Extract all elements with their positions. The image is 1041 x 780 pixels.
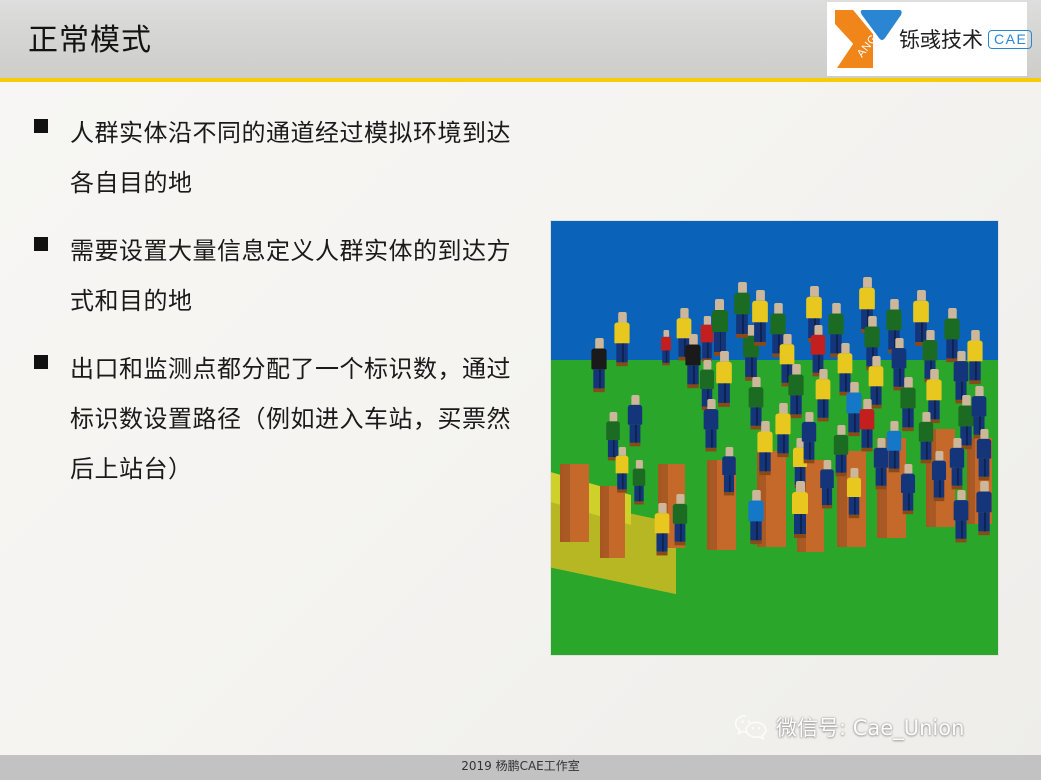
pedestrian-entity [860, 399, 875, 451]
pedestrian-entity [722, 447, 736, 495]
pedestrian-entity [712, 299, 728, 356]
pedestrian-entity [967, 330, 982, 384]
pedestrian-entity [976, 429, 990, 480]
wechat-icon [734, 713, 768, 741]
list-item: 人群实体沿不同的通道经过模拟环境到达各自目的地 [34, 108, 534, 208]
bullet-text: 出口和监测点都分配了一个标识数，通过标识数设置路径（例如进入车站，买票然后上站台… [70, 344, 518, 494]
pedestrian-entity [615, 447, 628, 493]
pedestrian-entity [775, 403, 790, 457]
list-item: 出口和监测点都分配了一个标识数，通过标识数设置路径（例如进入车站，买票然后上站台… [34, 344, 534, 494]
pedestrian-entity [672, 494, 686, 545]
barrier-block [600, 486, 625, 558]
pedestrian-entity [654, 503, 669, 555]
pedestrian-entity [887, 421, 901, 472]
watermark-text: 微信号: Cae_Union [776, 712, 964, 742]
header-accent-rule [0, 78, 1041, 82]
bullet-list: 人群实体沿不同的通道经过模拟环境到达各自目的地 需要设置大量信息定义人群实体的到… [34, 108, 534, 512]
pedestrian-entity [633, 460, 645, 504]
pedestrian-entity [628, 395, 642, 446]
pedestrian-entity [815, 369, 830, 421]
pedestrian-entity [661, 330, 671, 365]
pedestrian-entity [820, 460, 834, 508]
company-logo: ANG 铄彧技术 CAE [827, 2, 1027, 76]
pedestrian-entity [833, 425, 847, 476]
pedestrian-entity [802, 412, 816, 463]
pedestrian-entity [900, 377, 915, 431]
pedestrian-entity [757, 421, 772, 475]
pedestrian-entity [717, 351, 733, 407]
pedestrian-entity [847, 468, 861, 518]
pedestrian-entity [792, 481, 808, 538]
page-title: 正常模式 [28, 22, 152, 60]
crowd-simulation-image [551, 221, 998, 655]
pedestrian-entity [748, 490, 763, 544]
pedestrian-entity [752, 290, 768, 346]
pedestrian-entity [954, 490, 969, 542]
yang-arrow-logo-icon: ANG [831, 6, 903, 72]
pedestrian-entity [976, 481, 991, 535]
pedestrian-entity [614, 312, 629, 366]
square-bullet-icon [34, 119, 48, 133]
pedestrian-entity [592, 338, 607, 392]
pedestrian-entity [685, 334, 700, 388]
list-item: 需要设置大量信息定义人群实体的到达方式和目的地 [34, 226, 534, 326]
pedestrian-entity [901, 464, 915, 514]
pedestrian-entity [704, 399, 719, 451]
presentation-slide: 正常模式 ANG 铄彧技术 CAE 人群实体沿不同的通道经过模拟环境到达各自目的… [0, 0, 1041, 780]
square-bullet-icon [34, 355, 48, 369]
wechat-watermark: 微信号: Cae_Union [734, 712, 964, 742]
logo-cae-badge: CAE [988, 30, 1032, 49]
pedestrian-entity [950, 438, 964, 489]
footer-text: 2019 杨鹏CAE工作室 [0, 757, 1041, 774]
bullet-text: 人群实体沿不同的通道经过模拟环境到达各自目的地 [70, 108, 518, 208]
bullet-text: 需要设置大量信息定义人群实体的到达方式和目的地 [70, 226, 518, 326]
pedestrian-entity [734, 282, 750, 338]
pedestrian-entity [918, 412, 932, 463]
barrier-block [560, 464, 589, 542]
pedestrian-entity [932, 451, 946, 501]
square-bullet-icon [34, 237, 48, 251]
logo-company-name: 铄彧技术 [899, 24, 983, 54]
